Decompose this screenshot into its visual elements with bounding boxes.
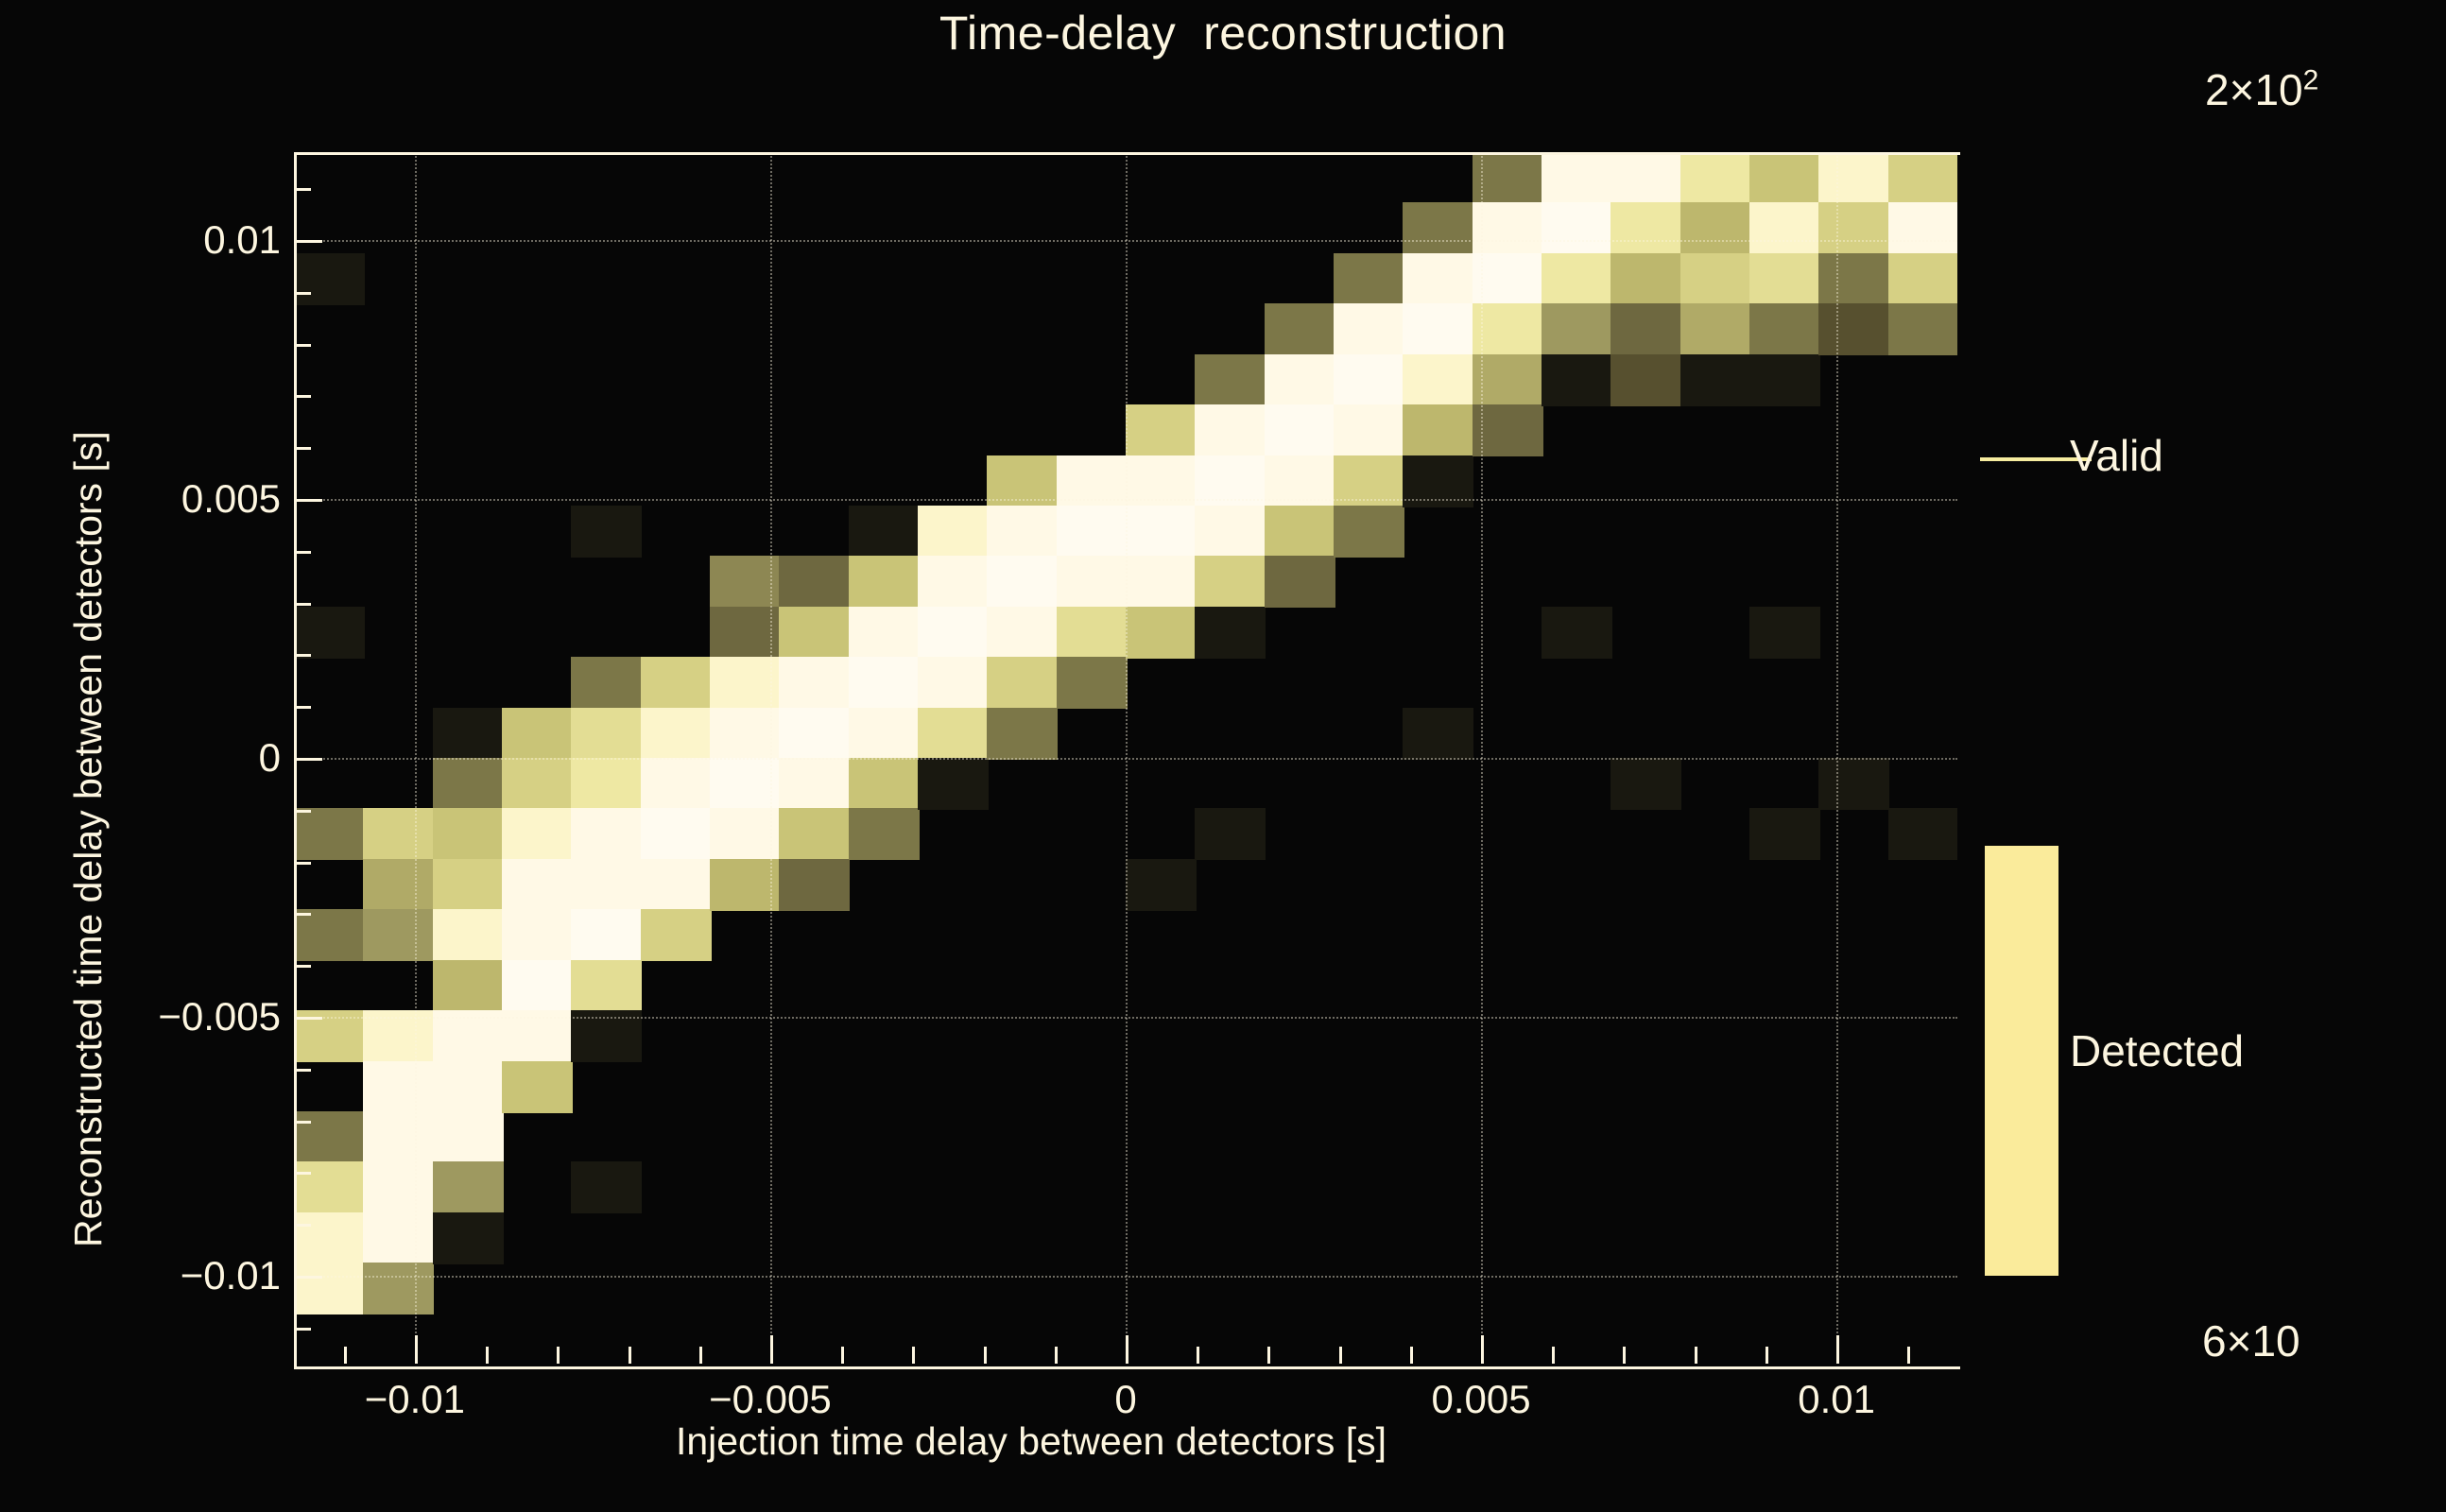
heatmap-cell [363,808,434,860]
y-tick-major [294,240,322,243]
heatmap-cell [433,859,504,911]
x-tick-major [770,1335,773,1364]
heatmap-cell [849,808,920,860]
y-tick-major [294,1017,322,1020]
heatmap-cell [571,506,642,558]
y-tick-minor [294,1224,311,1227]
heatmap-cell [1818,202,1889,254]
y-tick-minor [294,706,311,709]
heatmap-cell [1611,202,1681,254]
heatmap-cell [918,607,989,659]
heatmap-cell [1057,455,1128,507]
heatmap-cell [1473,152,1543,204]
heatmap-cell [571,1161,642,1213]
heatmap-cell [641,909,712,961]
heatmap-cell [502,960,573,1012]
x-axis-title: Injection time delay between detectors [… [0,1419,2062,1464]
heatmap-cell [571,808,642,860]
heatmap-cell [363,909,434,961]
heatmap-cell [294,253,365,305]
x-tick-minor [1766,1347,1768,1364]
y-tick-minor [294,395,311,398]
heatmap-cell [1749,202,1820,254]
heatmap-cell [779,758,850,810]
y-tick-minor [294,862,311,865]
heatmap-cell [433,758,504,810]
heatmap-cell [1542,253,1612,305]
heatmap-cell [710,808,781,860]
heatmap-cell [1403,708,1473,760]
heatmap-cell [571,859,642,911]
y-tick-minor [294,603,311,606]
legend-item-detected[interactable]: Detected [2070,1025,2244,1076]
heatmap-cell [433,1161,504,1213]
y-tick-minor [294,188,311,191]
x-tick-major [1126,1335,1128,1364]
y-tick-minor [294,551,311,554]
heatmap-cell [1195,556,1266,608]
heatmap-cell [1818,303,1889,355]
heatmap-cell [1680,253,1751,305]
heatmap-cell [1195,506,1266,558]
x-tick-minor [557,1347,560,1364]
x-tick-minor [841,1347,844,1364]
x-tick-label: 0 [1114,1377,1136,1422]
legend-box-swatch [1985,846,2058,1276]
x-tick-minor [912,1347,915,1364]
y-tick-label: 0.005 [181,476,281,522]
heatmap-cell [849,657,920,709]
heatmap-cell [779,808,850,860]
heatmap-cell [1126,506,1197,558]
x-tick-major [1836,1335,1839,1364]
x-tick-major [1481,1335,1484,1364]
heatmap-cell [849,758,920,810]
heatmap-cell [502,708,573,760]
heatmap-cell [1611,253,1681,305]
heatmap-cell [1749,607,1820,659]
heatmap-cell [1473,303,1543,355]
color-axis-bottom-label: 6×10 [2202,1315,2300,1366]
y-tick-label: 0.01 [203,217,281,263]
heatmap-cell [1057,506,1128,558]
heatmap-cell [987,506,1058,558]
heatmap-cell [641,758,712,810]
x-tick-minor [344,1347,347,1364]
heatmap-cell [1888,152,1957,204]
heatmap-cell [710,607,781,659]
heatmap-cell [987,556,1058,608]
heatmap-cell [1680,303,1751,355]
page-title: Time-delay reconstruction [0,6,2446,60]
heatmap-cell [294,1212,365,1264]
heatmap-cell [1126,556,1197,608]
heatmap-cell [710,758,781,810]
heatmap-cell [433,1111,504,1163]
heatmap-cell [1473,354,1543,406]
x-tick-label: 0.005 [1432,1377,1531,1422]
heatmap-cell [1680,202,1751,254]
heatmap-cell [1403,253,1473,305]
y-tick-major [294,758,322,761]
heatmap-cell [1818,253,1889,305]
heatmap-cell [1542,202,1612,254]
heatmap-cell [1057,657,1128,709]
heatmap-cell [1126,607,1197,659]
y-axis-title: Reconstructed time delay between detecto… [66,431,111,1247]
heatmap-cell [1334,303,1404,355]
heatmap-cell [1888,202,1957,254]
heatmap-cell [433,960,504,1012]
heatmap-cell [363,1111,434,1163]
heatmap-cell [294,1263,365,1314]
heatmap-cell [1126,404,1197,456]
y-tick-major [294,499,322,502]
x-tick-minor [1695,1347,1697,1364]
heatmap-cell [1749,152,1820,204]
heatmap-cells [294,152,1957,1364]
heatmap-cell [1749,303,1820,355]
y-tick-minor [294,1121,311,1124]
heatmap-cell [918,708,989,760]
heatmap-cell [1334,354,1404,406]
heatmap-cell [849,556,920,608]
heatmap-cell [849,506,920,558]
y-tick-minor [294,965,311,968]
heatmap-cell [294,808,365,860]
heatmap-cell [1542,354,1612,406]
heatmap-cell [987,607,1058,659]
heatmap-cell [1749,354,1820,406]
heatmap-cell [433,909,504,961]
y-tick-minor [294,654,311,657]
heatmap-cell [1334,404,1404,456]
heatmap-cell [1680,152,1751,204]
y-tick-major [294,1276,322,1279]
heatmap-cell [1818,152,1889,204]
x-tick-major [415,1335,418,1364]
heatmap-cell [1265,556,1335,608]
heatmap-cell [779,657,850,709]
heatmap-cell [1195,455,1266,507]
heatmap-cell [1542,303,1612,355]
heatmap-cell [1473,404,1543,456]
heatmap-cell [987,708,1058,760]
heatmap-cell [1611,354,1681,406]
heatmap-cell [502,1010,573,1062]
color-axis-top-label: 2×102 [2205,64,2318,115]
heatmap-cell [1611,758,1681,810]
plot-canvas: Time-delay reconstruction −0.01−0.00500.… [0,0,2446,1512]
heatmap-cell [641,708,712,760]
heatmap-cell [710,556,781,608]
heatmap-cell [1542,607,1612,659]
heatmap-plot-area[interactable] [294,152,1957,1364]
heatmap-cell [433,1212,504,1264]
heatmap-cell [502,859,573,911]
x-tick-minor [629,1347,631,1364]
x-tick-minor [1197,1347,1199,1364]
heatmap-cell [849,708,920,760]
heatmap-cell [1334,455,1404,507]
heatmap-cell [294,607,365,659]
y-tick-minor [294,810,311,813]
heatmap-cell [779,607,850,659]
heatmap-cell [1334,506,1404,558]
x-tick-minor [1055,1347,1058,1364]
x-tick-minor [1552,1347,1555,1364]
heatmap-cell [641,808,712,860]
heatmap-cell [849,607,920,659]
heatmap-cell [294,1161,365,1213]
heatmap-cell [433,1061,504,1113]
x-tick-label: 0.01 [1798,1377,1875,1422]
x-tick-label: −0.005 [709,1377,832,1422]
heatmap-cell [987,657,1058,709]
heatmap-cell [641,657,712,709]
heatmap-cell [710,657,781,709]
heatmap-cell [1057,556,1128,608]
heatmap-cell [918,758,989,810]
x-tick-minor [1267,1347,1270,1364]
heatmap-cell [1265,303,1335,355]
heatmap-cell [1403,354,1473,406]
heatmap-cell [433,708,504,760]
heatmap-cell [502,808,573,860]
heatmap-cell [571,960,642,1012]
heatmap-cell [918,657,989,709]
heatmap-cell [294,1111,365,1163]
heatmap-cell [363,1061,434,1113]
heatmap-cell [779,708,850,760]
x-tick-minor [1907,1347,1910,1364]
heatmap-cell [1126,455,1197,507]
heatmap-cell [1403,455,1473,507]
y-tick-minor [294,1172,311,1175]
y-tick-minor [294,1328,311,1331]
x-tick-label: −0.01 [365,1377,465,1422]
heatmap-cell [1126,859,1197,911]
heatmap-cell [1195,607,1266,659]
heatmap-cell [1403,404,1473,456]
heatmap-cell [779,556,850,608]
heatmap-cell [1265,455,1335,507]
x-tick-minor [1339,1347,1342,1364]
heatmap-cell [1888,303,1957,355]
x-tick-minor [699,1347,702,1364]
x-tick-minor [486,1347,489,1364]
heatmap-cell [363,1212,434,1264]
y-tick-minor [294,292,311,295]
heatmap-cell [433,808,504,860]
heatmap-cell [363,1010,434,1062]
x-tick-minor [1623,1347,1626,1364]
heatmap-cell [502,758,573,810]
heatmap-cell [1473,202,1543,254]
heatmap-cell [1680,354,1751,406]
heatmap-cell [1473,253,1543,305]
heatmap-cell [1265,354,1335,406]
heatmap-cell [987,455,1058,507]
heatmap-cell [918,556,989,608]
heatmap-cell [779,859,850,911]
heatmap-cell [1611,303,1681,355]
heatmap-cell [1749,808,1820,860]
heatmap-cell [1334,253,1404,305]
heatmap-cell [1542,152,1612,204]
y-tick-label: −0.005 [158,994,281,1039]
heatmap-cell [1403,202,1473,254]
heatmap-cell [571,708,642,760]
heatmap-cell [1057,607,1128,659]
heatmap-cell [1195,354,1266,406]
heatmap-cell [1195,404,1266,456]
heatmap-cell [1403,303,1473,355]
heatmap-cell [641,859,712,911]
heatmap-cell [571,909,642,961]
heatmap-cell [502,909,573,961]
heatmap-cell [1611,152,1681,204]
heatmap-cell [918,506,989,558]
x-tick-minor [984,1347,987,1364]
y-tick-minor [294,447,311,450]
heatmap-cell [363,859,434,911]
heatmap-cell [363,1161,434,1213]
heatmap-cell [363,1263,434,1314]
heatmap-cell [433,1010,504,1062]
legend-item-valid[interactable]: Valid [2070,430,2163,481]
y-tick-minor [294,913,311,916]
heatmap-cell [1195,808,1266,860]
heatmap-cell [1888,808,1957,860]
heatmap-cell [571,1010,642,1062]
heatmap-cell [710,859,781,911]
y-tick-label: −0.01 [181,1253,281,1298]
heatmap-cell [1888,253,1957,305]
heatmap-cell [1265,404,1335,456]
y-tick-label: 0 [259,735,281,781]
heatmap-cell [1818,758,1889,810]
heatmap-cell [1265,506,1335,558]
y-tick-minor [294,1069,311,1072]
heatmap-cell [571,657,642,709]
heatmap-cell [502,1061,573,1113]
heatmap-cell [294,909,365,961]
y-tick-minor [294,344,311,347]
x-tick-minor [1410,1347,1413,1364]
heatmap-cell [1749,253,1820,305]
heatmap-cell [710,708,781,760]
heatmap-cell [571,758,642,810]
